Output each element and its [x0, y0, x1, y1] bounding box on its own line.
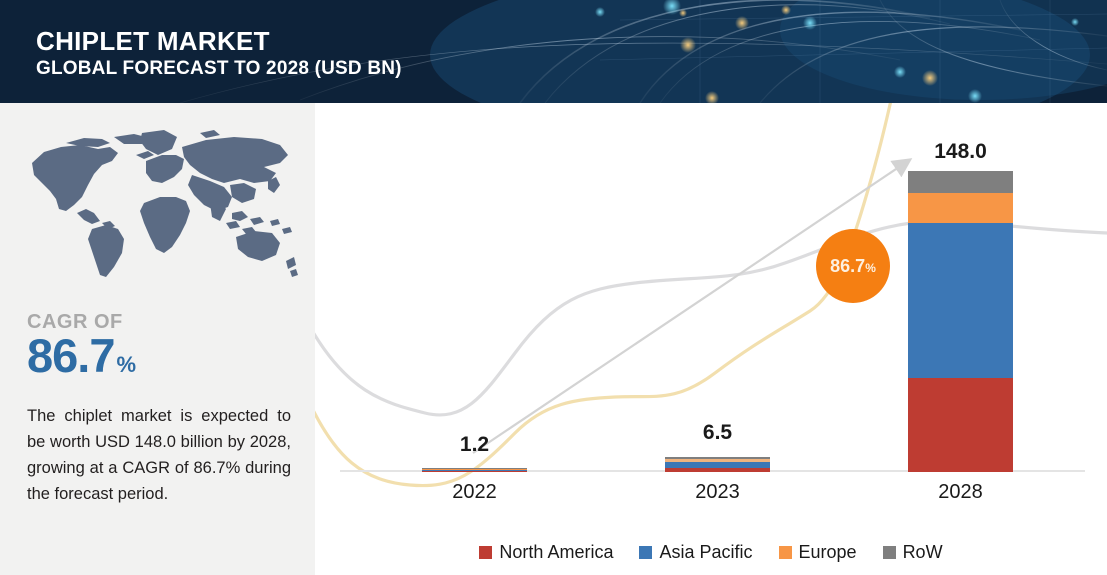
bar-segment-europe-2028 — [908, 193, 1013, 223]
legend-swatch-asia-pacific — [639, 546, 652, 559]
legend-item-europe[interactable]: Europe — [779, 542, 857, 563]
cagr-badge-value: 86.7 — [830, 256, 865, 276]
category-label-2022: 2022 — [422, 481, 527, 504]
cagr-value-row: 86.7 % — [27, 331, 297, 381]
legend-item-row[interactable]: RoW — [883, 542, 943, 563]
category-label-2023: 2023 — [665, 481, 770, 504]
page-title: CHIPLET MARKET — [36, 26, 402, 56]
bar-total-label-2023: 6.5 — [665, 421, 770, 445]
chart-area: 86.7% 1.2 2022 6.5 2023 148.0 2028 — [315, 103, 1107, 575]
bar-total-label-2028: 148.0 — [908, 140, 1013, 164]
bar-segment-row-2028 — [908, 171, 1013, 193]
legend-label-asia-pacific: Asia Pacific — [659, 542, 752, 563]
legend-label-europe: Europe — [799, 542, 857, 563]
cagr-badge-unit: % — [865, 261, 876, 275]
bar-segment-asia-pacific-2028 — [908, 223, 1013, 378]
bar-total-label-2022: 1.2 — [422, 433, 527, 457]
legend-swatch-europe — [779, 546, 792, 559]
bar-segment-north-america-2022 — [422, 471, 527, 472]
header-text-block: CHIPLET MARKET GLOBAL FORECAST TO 2028 (… — [36, 26, 402, 81]
chart-legend: North America Asia Pacific Europe RoW — [315, 542, 1107, 563]
description-text: The chiplet market is expected to be wor… — [27, 403, 291, 507]
sidebar-panel: CAGR OF 86.7 % The chiplet market is exp… — [0, 103, 315, 575]
legend-label-north-america: North America — [499, 542, 613, 563]
page-subtitle: GLOBAL FORECAST TO 2028 (USD BN) — [36, 57, 402, 81]
bar-column-2022 — [422, 468, 527, 472]
infographic-page: CHIPLET MARKET GLOBAL FORECAST TO 2028 (… — [0, 0, 1107, 575]
bar-column-2023 — [665, 457, 770, 472]
legend-label-row: RoW — [903, 542, 943, 563]
cagr-badge-label: 86.7% — [830, 256, 876, 277]
legend-item-north-america[interactable]: North America — [479, 542, 613, 563]
cagr-block: CAGR OF 86.7 % — [27, 311, 297, 381]
cagr-value: 86.7 — [27, 331, 114, 381]
world-map-svg — [14, 125, 306, 300]
bar-column-2028 — [908, 171, 1013, 472]
cagr-unit: % — [116, 352, 136, 378]
legend-swatch-north-america — [479, 546, 492, 559]
legend-swatch-row — [883, 546, 896, 559]
bar-segment-north-america-2028 — [908, 378, 1013, 472]
cagr-badge: 86.7% — [816, 229, 890, 303]
bar-segment-north-america-2023 — [665, 468, 770, 472]
legend-item-asia-pacific[interactable]: Asia Pacific — [639, 542, 752, 563]
category-label-2028: 2028 — [908, 481, 1013, 504]
world-map-icon — [14, 125, 306, 300]
header-banner: CHIPLET MARKET GLOBAL FORECAST TO 2028 (… — [0, 0, 1107, 103]
